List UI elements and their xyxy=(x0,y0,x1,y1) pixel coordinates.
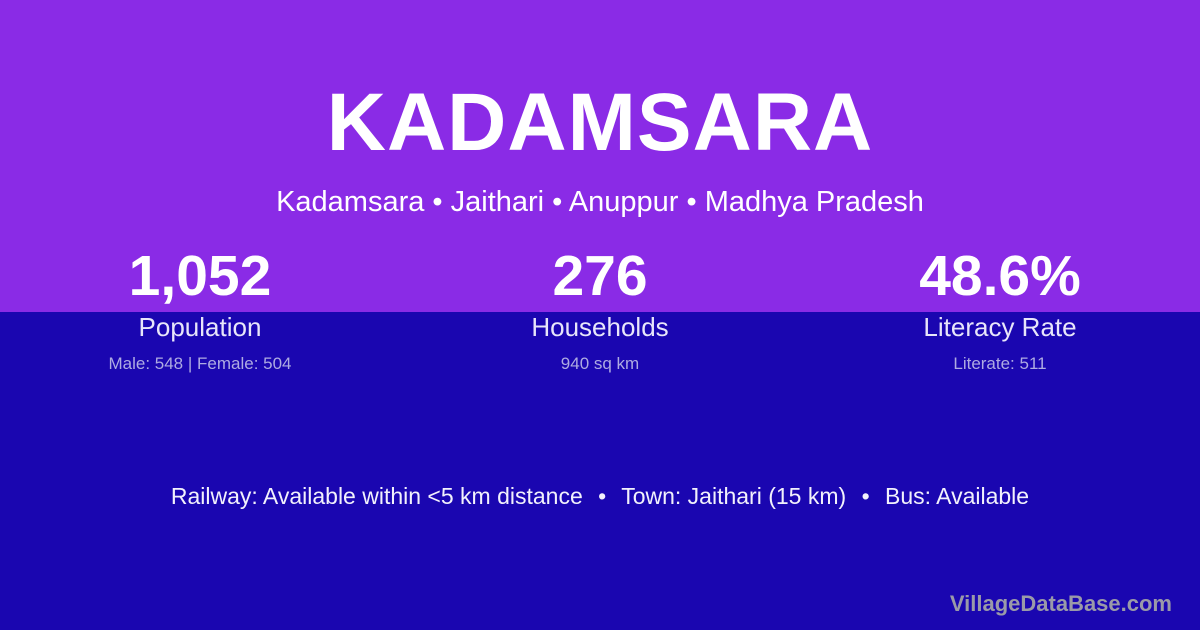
village-info-card: KADAMSARA Kadamsara • Jaithari • Anuppur… xyxy=(0,0,1200,630)
stat-sublabel: Male: 548 | Female: 504 xyxy=(0,355,400,372)
breadcrumb: Kadamsara • Jaithari • Anuppur • Madhya … xyxy=(0,188,1200,217)
page-title: KADAMSARA xyxy=(0,82,1200,164)
stat-sublabel: Literate: 511 xyxy=(800,355,1200,372)
stat-label: Population xyxy=(0,314,400,340)
site-brand: VillageDataBase.com xyxy=(950,593,1172,615)
info-separator: • xyxy=(589,483,615,509)
info-town: Town: Jaithari (15 km) xyxy=(621,483,846,509)
stat-value: 48.6% xyxy=(800,246,1200,308)
stats-row: 1,052 Population Male: 548 | Female: 504… xyxy=(0,246,1200,372)
stat-value: 276 xyxy=(400,246,800,308)
stat-households: 276 Households 940 sq km xyxy=(400,246,800,372)
info-railway: Railway: Available within <5 km distance xyxy=(171,483,583,509)
info-separator: • xyxy=(853,483,879,509)
stat-value: 1,052 xyxy=(0,246,400,308)
info-bus: Bus: Available xyxy=(885,483,1029,509)
card-header: KADAMSARA Kadamsara • Jaithari • Anuppur… xyxy=(0,0,1200,217)
stat-label: Households xyxy=(400,314,800,340)
amenities-info-line: Railway: Available within <5 km distance… xyxy=(0,485,1200,508)
stat-population: 1,052 Population Male: 548 | Female: 504 xyxy=(0,246,400,372)
stat-sublabel: 940 sq km xyxy=(400,355,800,372)
stat-label: Literacy Rate xyxy=(800,314,1200,340)
stat-literacy-rate: 48.6% Literacy Rate Literate: 511 xyxy=(800,246,1200,372)
